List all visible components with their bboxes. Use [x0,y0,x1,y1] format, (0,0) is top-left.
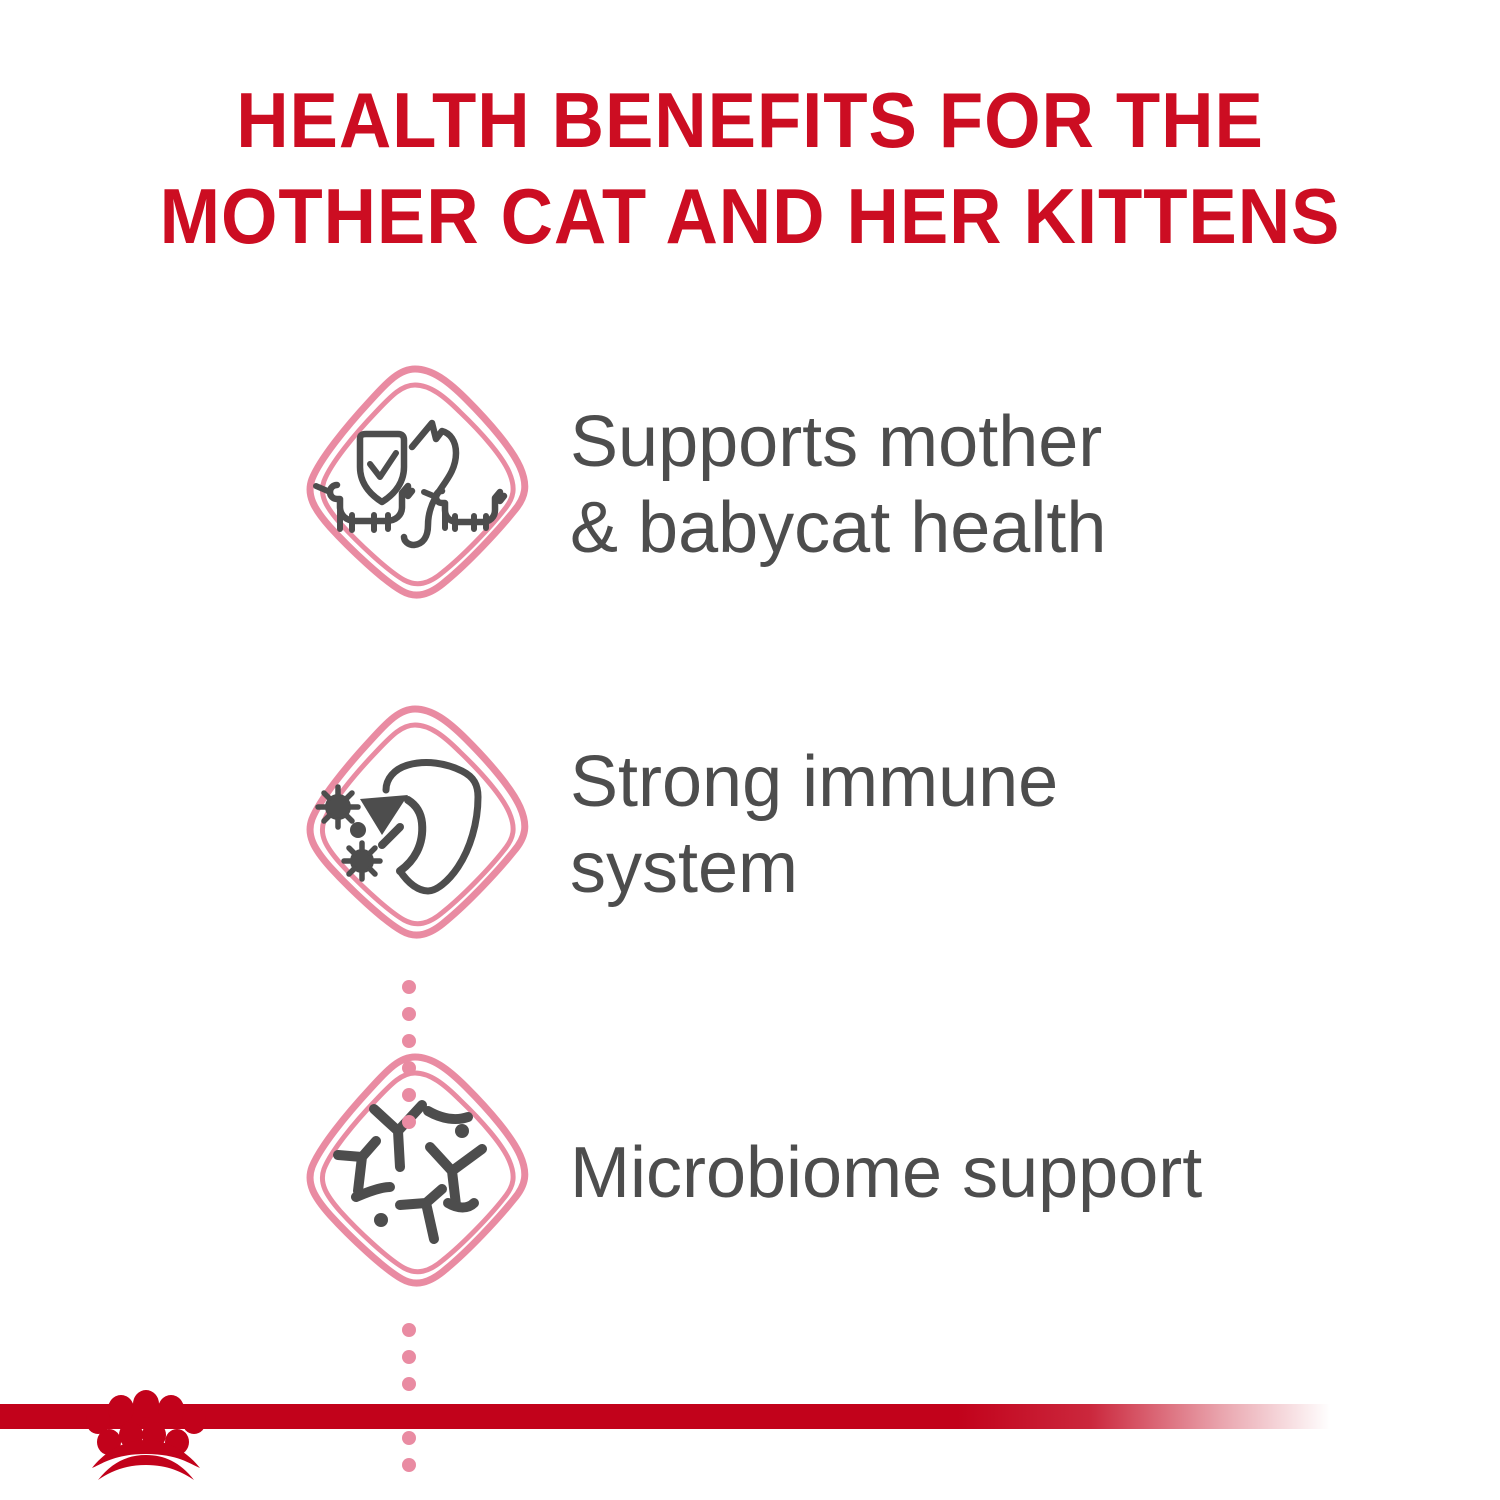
benefit-item: Strong immune system [290,695,1470,955]
benefit-label: Supports mother & babycat health [570,399,1106,571]
shield-germs-immunity-icon [290,695,540,955]
benefits-list: Supports mother & babycat health [0,355,1500,1315]
gut-bacteria-microbiome-icon [290,1043,540,1303]
benefit-item: Microbiome support [290,1043,1470,1303]
footer [0,1380,1500,1500]
benefit-item: Supports mother & babycat health [290,355,1470,615]
royal-canin-crown-logo [78,1380,218,1490]
connector-dot [402,980,416,994]
benefit-label: Microbiome support [570,1130,1202,1216]
connector-dots [402,980,418,1066]
benefit-label: Strong immune system [570,739,1058,911]
connector-dot [402,1323,416,1337]
connector-dot [402,1350,416,1364]
connector-dot [402,1061,416,1075]
page-title-line-1: HEALTH BENEFITS FOR THE [53,72,1448,168]
page-title-line-2: MOTHER CAT AND HER KITTENS [53,168,1448,264]
shield-mother-cat-kittens-icon [290,355,540,615]
connector-dot [402,1088,416,1102]
connector-dot [402,1034,416,1048]
health-benefits-infographic: HEALTH BENEFITS FOR THE MOTHER CAT AND H… [0,0,1500,1500]
page-title: HEALTH BENEFITS FOR THE MOTHER CAT AND H… [0,72,1500,264]
connector-dot [402,1007,416,1021]
connector-dot [402,1115,416,1129]
